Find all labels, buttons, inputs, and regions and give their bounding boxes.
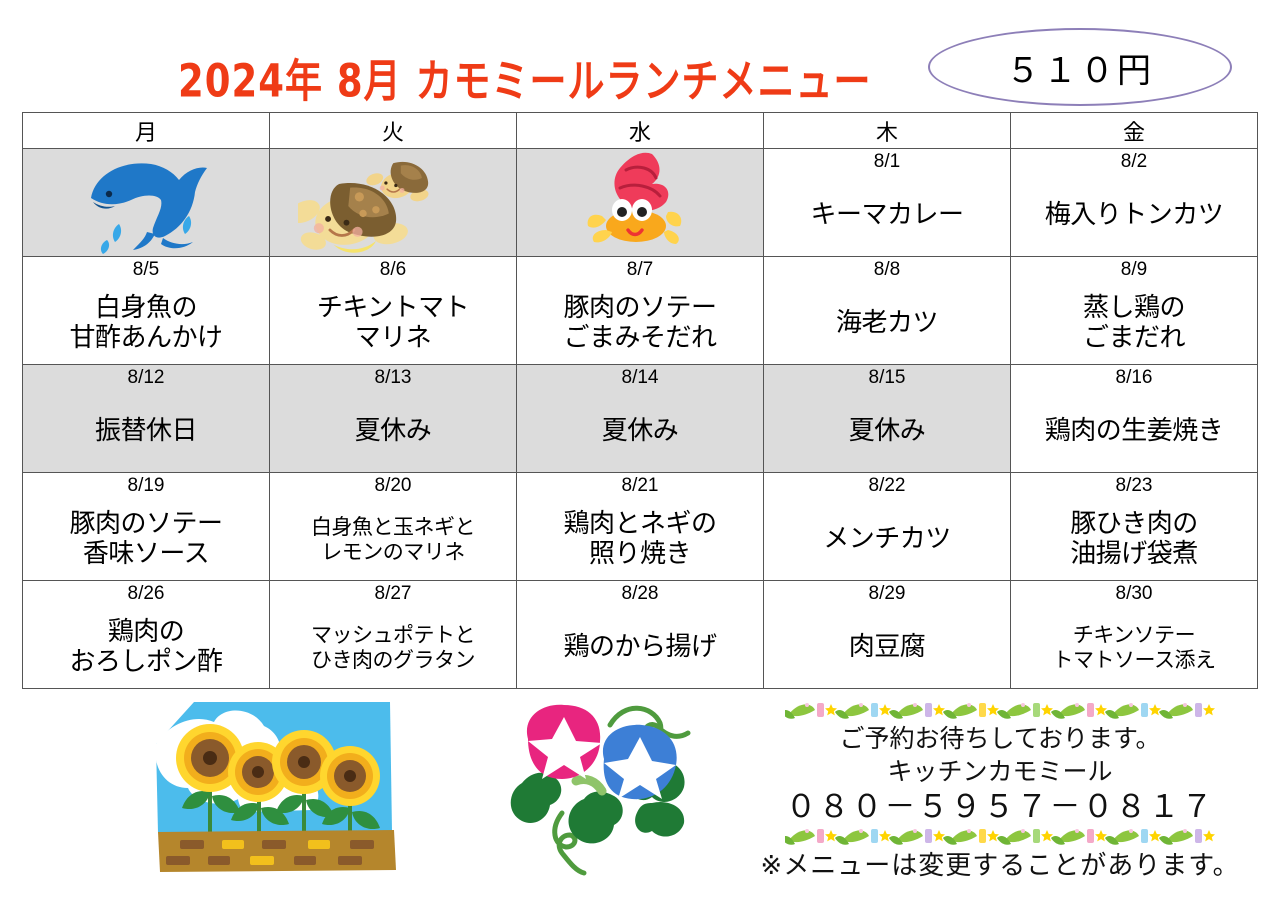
cell-menu-item: 肉豆腐	[766, 609, 1008, 686]
price-badge: ５１０円	[928, 28, 1232, 106]
calendar-cell: 8/26鶏肉の おろしポン酢	[23, 581, 270, 689]
cell-menu-item: 夏休み	[519, 393, 761, 470]
calendar-cell: 8/14夏休み	[517, 365, 764, 473]
cell-menu-item: 鶏肉の生姜焼き	[1013, 393, 1255, 470]
calendar-week-row: 8/5白身魚の 甘酢あんかけ8/6チキントマト マリネ8/7豚肉のソテー ごまみ…	[23, 257, 1258, 365]
cell-menu-item: 振替休日	[25, 393, 267, 470]
cell-menu-item: 蒸し鶏の ごまだれ	[1013, 285, 1255, 362]
cell-date: 8/1	[764, 152, 1010, 172]
calendar-cell: 8/28鶏のから揚げ	[517, 581, 764, 689]
sunflowers-illustration	[152, 700, 402, 875]
calendar-week-row: 8/1キーマカレー8/2梅入りトンカツ	[23, 149, 1258, 257]
cell-date: 8/14	[517, 368, 763, 388]
price-text: ５１０円	[1006, 43, 1154, 92]
calendar-cell: 8/29肉豆腐	[764, 581, 1011, 689]
cell-date: 8/15	[764, 368, 1010, 388]
calendar-week-row: 8/19豚肉のソテー 香味ソース8/20白身魚と玉ネギと レモンのマリネ8/21…	[23, 473, 1258, 581]
cell-menu-item: 豚肉のソテー ごまみそだれ	[519, 285, 761, 362]
morning-glory-illustration	[492, 695, 714, 885]
calendar-cell	[23, 149, 270, 257]
page-header: 2024年 8月 カモミールランチメニュー ５１０円	[0, 0, 1280, 110]
cell-menu-item: メンチカツ	[766, 501, 1008, 578]
calendar-body: 8/1キーマカレー8/2梅入りトンカツ8/5白身魚の 甘酢あんかけ8/6チキント…	[23, 149, 1258, 689]
cell-date: 8/20	[270, 476, 516, 496]
calendar-cell: 8/27マッシュポテトと ひき肉のグラタン	[270, 581, 517, 689]
menu-change-note: ※メニューは変更することがあります。	[745, 845, 1255, 882]
cell-menu-item: 鶏のから揚げ	[519, 609, 761, 686]
reservation-text: ご予約お待ちしております。	[745, 722, 1255, 755]
cell-date: 8/16	[1011, 368, 1257, 388]
day-header-fri: 金	[1011, 113, 1258, 149]
day-header-mon: 月	[23, 113, 270, 149]
calendar-cell: 8/12振替休日	[23, 365, 270, 473]
cell-menu-item: チキントマト マリネ	[272, 285, 514, 362]
cell-date: 8/19	[23, 476, 269, 496]
cell-date: 8/7	[517, 260, 763, 280]
cell-menu-item: キーマカレー	[766, 177, 1008, 254]
calendar-cell: 8/20白身魚と玉ネギと レモンのマリネ	[270, 473, 517, 581]
day-header-tue: 火	[270, 113, 517, 149]
cell-date: 8/26	[23, 584, 269, 604]
menu-calendar: 月 火 水 木 金 8/1キーマカレー8/2梅入りトンカツ8/5白身魚の 甘酢あ…	[22, 112, 1258, 689]
calendar-header-row: 月 火 水 木 金	[23, 113, 1258, 149]
cell-menu-item: 白身魚の 甘酢あんかけ	[25, 285, 267, 362]
dolphin-illustration	[23, 149, 269, 256]
calendar-cell: 8/21鶏肉とネギの 照り焼き	[517, 473, 764, 581]
cell-menu-item: 鶏肉の おろしポン酢	[25, 609, 267, 686]
cell-date: 8/28	[517, 584, 763, 604]
cell-menu-item: 海老カツ	[766, 285, 1008, 362]
day-header-thu: 木	[764, 113, 1011, 149]
cell-date: 8/21	[517, 476, 763, 496]
cell-date: 8/9	[1011, 260, 1257, 280]
cell-date: 8/27	[270, 584, 516, 604]
calendar-cell: 8/2梅入りトンカツ	[1011, 149, 1258, 257]
contact-block: ご予約お待ちしております。 キッチンカモミール ０８０－５９５７－０８１７	[745, 700, 1255, 848]
cell-date: 8/23	[1011, 476, 1257, 496]
cell-menu-item: 鶏肉とネギの 照り焼き	[519, 501, 761, 578]
cell-menu-item: 夏休み	[766, 393, 1008, 470]
cell-date: 8/12	[23, 368, 269, 388]
calendar-cell: 8/13夏休み	[270, 365, 517, 473]
cell-date: 8/30	[1011, 584, 1257, 604]
cell-menu-item: 豚肉のソテー 香味ソース	[25, 501, 267, 578]
calendar-week-row: 8/12振替休日8/13夏休み8/14夏休み8/15夏休み8/16鶏肉の生姜焼き	[23, 365, 1258, 473]
sea-turtles-illustration	[270, 149, 516, 256]
calendar-cell: 8/19豚肉のソテー 香味ソース	[23, 473, 270, 581]
cell-menu-item: 梅入りトンカツ	[1013, 177, 1255, 254]
calendar-cell	[270, 149, 517, 257]
calendar-cell: 8/1キーマカレー	[764, 149, 1011, 257]
cell-date: 8/22	[764, 476, 1010, 496]
day-header-wed: 水	[517, 113, 764, 149]
calendar-cell	[517, 149, 764, 257]
calendar-cell: 8/15夏休み	[764, 365, 1011, 473]
shop-name: キッチンカモミール	[745, 755, 1255, 788]
cell-date: 8/29	[764, 584, 1010, 604]
calendar-week-row: 8/26鶏肉の おろしポン酢8/27マッシュポテトと ひき肉のグラタン8/28鶏…	[23, 581, 1258, 689]
calendar-cell: 8/8海老カツ	[764, 257, 1011, 365]
hermit-crab-illustration	[517, 149, 763, 256]
calendar-cell: 8/9蒸し鶏の ごまだれ	[1011, 257, 1258, 365]
calendar-cell: 8/5白身魚の 甘酢あんかけ	[23, 257, 270, 365]
calendar-cell: 8/23豚ひき肉の 油揚げ袋煮	[1011, 473, 1258, 581]
phone-number: ０８０－５９５７－０８１７	[745, 788, 1255, 826]
calendar-cell: 8/16鶏肉の生姜焼き	[1011, 365, 1258, 473]
cell-date: 8/8	[764, 260, 1010, 280]
cell-date: 8/5	[23, 260, 269, 280]
calendar-cell: 8/22メンチカツ	[764, 473, 1011, 581]
cell-date: 8/2	[1011, 152, 1257, 172]
cell-menu-item: 夏休み	[272, 393, 514, 470]
cell-date: 8/6	[270, 260, 516, 280]
tanabata-decoration-top	[785, 700, 1215, 722]
cell-menu-item: 豚ひき肉の 油揚げ袋煮	[1013, 501, 1255, 578]
calendar-cell: 8/30チキンソテー トマトソース添え	[1011, 581, 1258, 689]
calendar-cell: 8/7豚肉のソテー ごまみそだれ	[517, 257, 764, 365]
cell-date: 8/13	[270, 368, 516, 388]
cell-menu-item: 白身魚と玉ネギと レモンのマリネ	[272, 501, 514, 578]
calendar-cell: 8/6チキントマト マリネ	[270, 257, 517, 365]
cell-menu-item: マッシュポテトと ひき肉のグラタン	[272, 609, 514, 686]
page-title: 2024年 8月 カモミールランチメニュー	[178, 44, 872, 110]
cell-menu-item: チキンソテー トマトソース添え	[1013, 609, 1255, 686]
